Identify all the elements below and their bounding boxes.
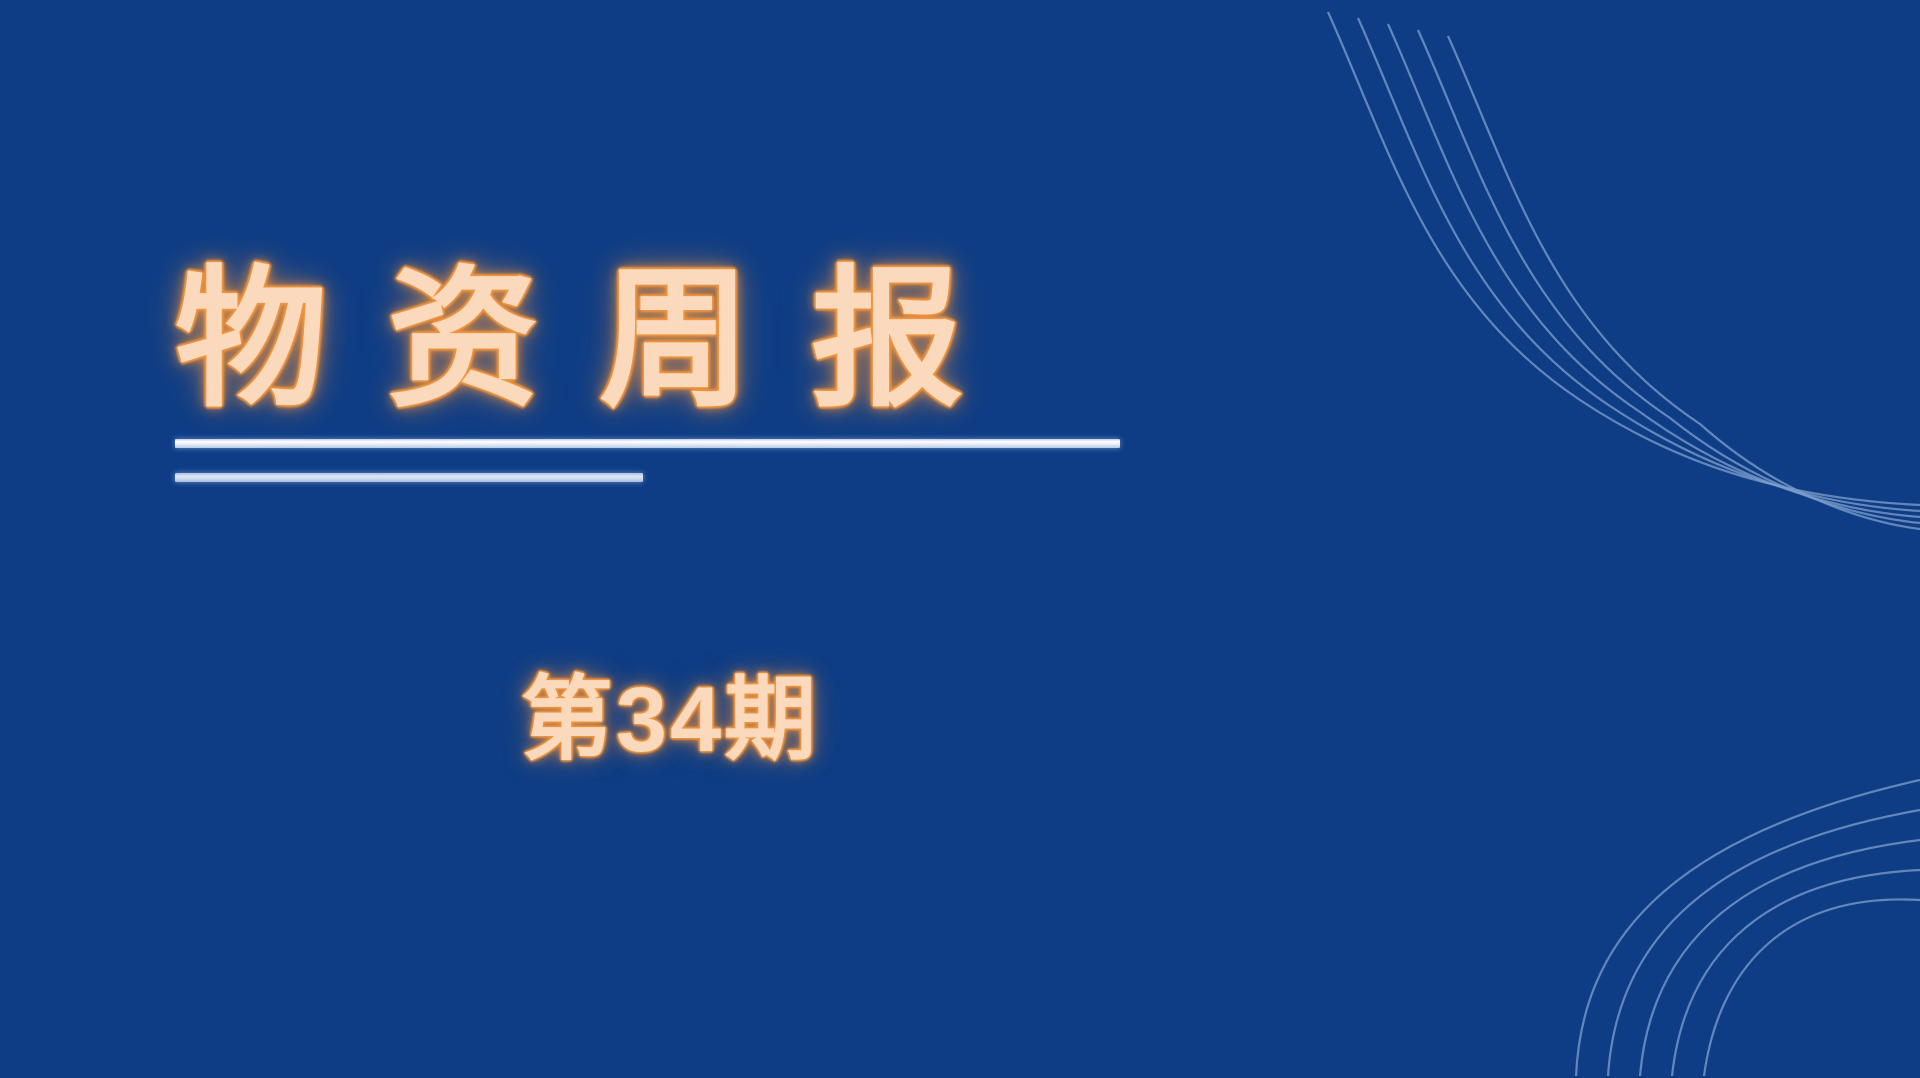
decor-arc-4 (1672, 870, 1920, 1076)
decor-arc-2 (1608, 810, 1920, 1076)
title-block: 物资周报 (175, 255, 1175, 482)
decor-curve-5 (1448, 36, 1920, 529)
page-subtitle: 第34期 (175, 645, 1165, 778)
decor-curve-1 (1328, 12, 1920, 505)
title-underline-primary (175, 439, 1120, 448)
decor-arc-3 (1640, 840, 1920, 1076)
decor-arc-1 (1576, 780, 1920, 1076)
title-underline-secondary (175, 473, 643, 482)
decor-curve-2 (1358, 18, 1920, 511)
corner-curves-top-right-decoration (1280, 0, 1920, 600)
decor-arc-5 (1704, 899, 1920, 1076)
corner-arcs-bottom-right-decoration (1260, 598, 1920, 1078)
decor-curve-4 (1418, 30, 1920, 523)
top-right-curves-svg (1280, 0, 1920, 600)
title-slide: 物资周报 第34期 (0, 0, 1920, 1078)
page-title: 物资周报 (175, 255, 1175, 425)
decor-curve-3 (1388, 24, 1920, 517)
title-underline-rules (175, 439, 1175, 482)
bottom-right-arcs-svg (1260, 598, 1920, 1078)
